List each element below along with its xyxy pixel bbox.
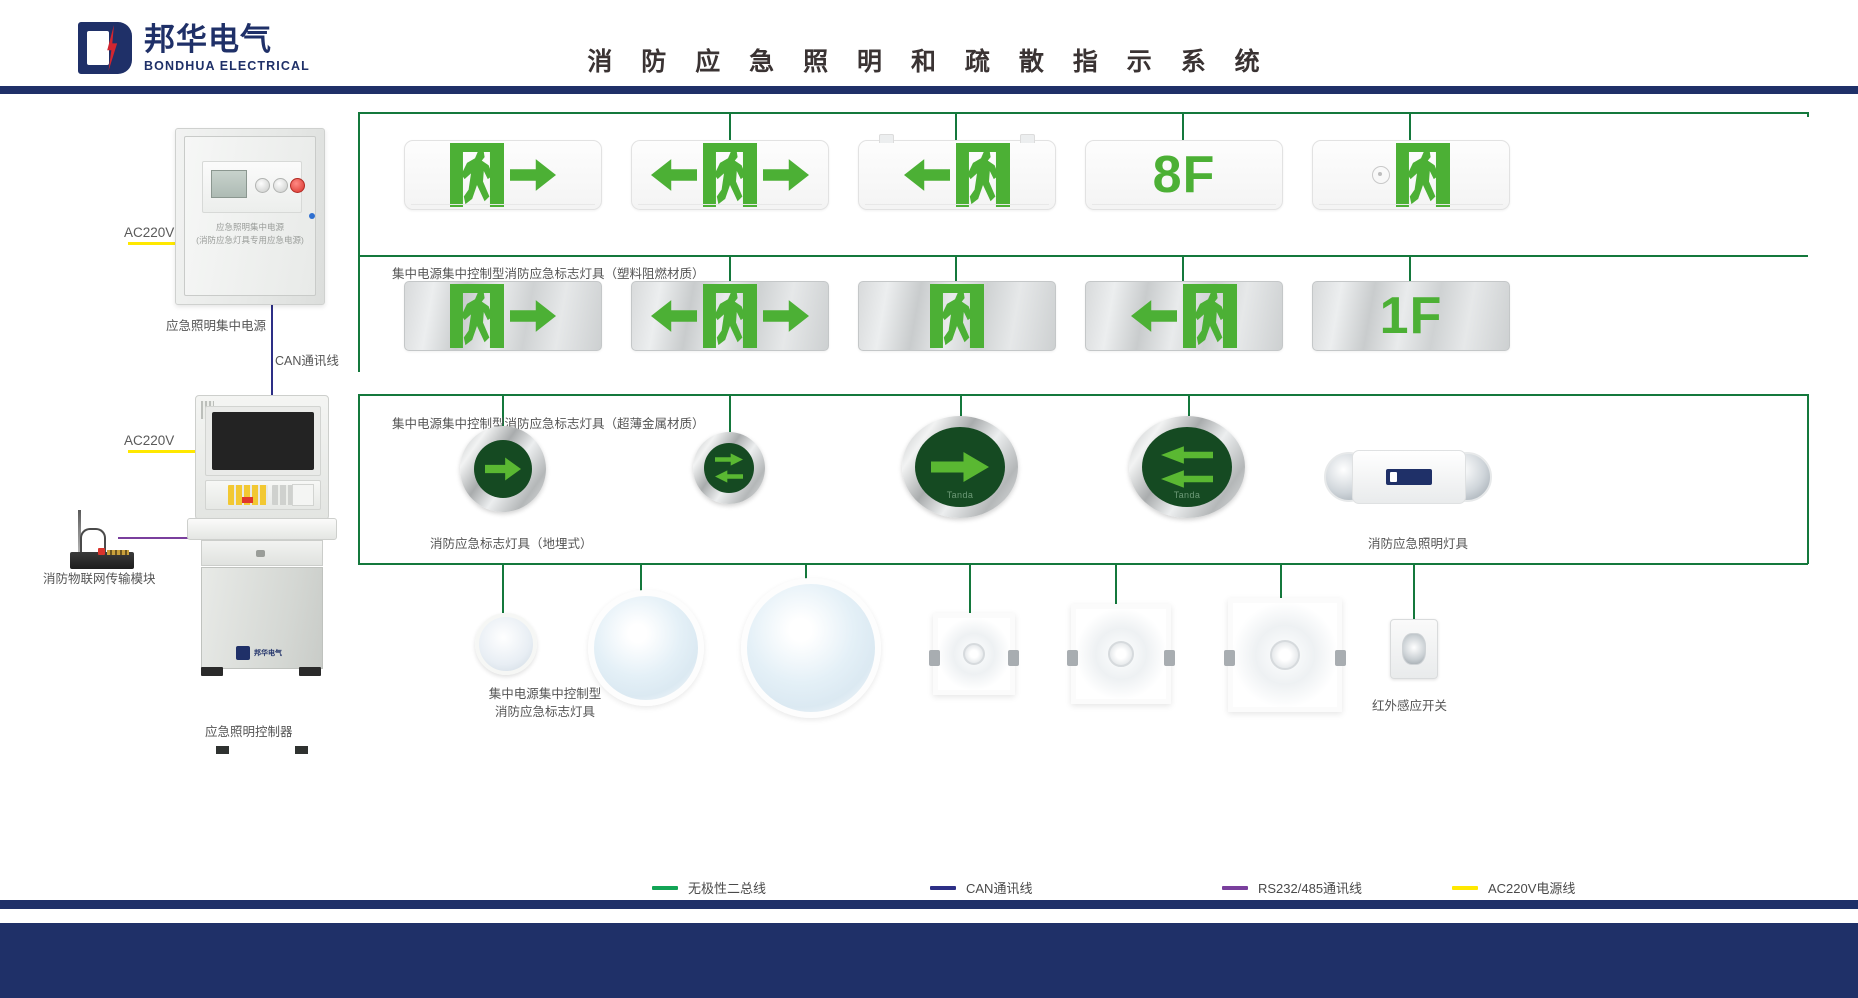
bus-drop-r1-2 [729, 112, 731, 142]
bus-green-vertical-main [358, 112, 360, 372]
controller-cabinet-door[interactable]: 邦华电气 [201, 567, 323, 669]
legend-swatch-green [652, 886, 678, 890]
arrow-left-icon [651, 157, 697, 193]
arrow-right-icon [763, 157, 809, 193]
legend: 无极性二总线 CAN通讯线 RS232/485通讯线 AC220V电源线 [0, 878, 1858, 898]
metal-sign-exit-plain[interactable] [858, 281, 1056, 351]
legend-item-2: RS232/485通讯线 [1222, 878, 1362, 897]
running-man-icon [1396, 143, 1450, 207]
infrared-wall-switch[interactable] [1390, 619, 1438, 679]
emergency-lighting-controller[interactable]: 邦华电气 [195, 395, 327, 690]
bus-drop-r4-1 [502, 563, 504, 613]
metal-sign-exit-left[interactable] [1085, 281, 1283, 351]
downlight-medium[interactable] [1071, 604, 1171, 704]
row3-caption-left: 消防应急标志灯具（地埋式） [430, 535, 593, 553]
bus-drop-r1-3 [955, 112, 957, 142]
row2-caption: 集中电源集中控制型消防应急标志灯具（超薄金属材质） [392, 415, 705, 433]
emergency-power-cabinet[interactable]: 应急照明集中电源 (消防应急灯具专用应急电源) [175, 128, 325, 305]
arrow-left-icon [651, 298, 697, 334]
running-man-icon [956, 143, 1010, 207]
can-bus-line [271, 303, 273, 399]
recessed-sign-arrow-right-wide[interactable]: Tanda [902, 416, 1018, 518]
legend-label-3: AC220V电源线 [1488, 878, 1575, 897]
twin-head-emergency-lamp[interactable] [1324, 444, 1492, 512]
legend-item-3: AC220V电源线 [1452, 878, 1575, 897]
cabinet-text-line1: 应急照明集中电源 [176, 221, 324, 234]
arrow-right-icon [485, 456, 521, 482]
bus-drop-r3-4 [1188, 394, 1190, 416]
bus-drop-r2-4 [1182, 255, 1184, 283]
recessed-sign-arrow-right[interactable] [460, 426, 546, 512]
controller-screen [212, 412, 314, 470]
metal-sign-floor-1f[interactable]: 1F [1312, 281, 1510, 351]
arrow-right-icon [931, 450, 989, 484]
legend-swatch-purple [1222, 886, 1248, 890]
row4-caption-right: 红外感应开关 [1372, 697, 1447, 715]
iot-module-caption: 消防物联网传输模块 [43, 570, 156, 588]
footer-rule-top [0, 900, 1858, 909]
downlight-small[interactable] [933, 613, 1015, 695]
recessed-sign-arrow-left-wide[interactable]: Tanda [1129, 416, 1245, 518]
cabinet-emergency-button[interactable] [290, 178, 305, 193]
cabinet-knob-2[interactable] [273, 178, 288, 193]
cabinet-status-led [309, 213, 315, 219]
running-man-icon [703, 284, 757, 348]
footer-band [0, 923, 1858, 998]
sign-floor-number-8f[interactable]: 8F [1085, 140, 1283, 210]
fire-iot-transmission-module[interactable] [68, 510, 136, 572]
running-man-icon [703, 143, 757, 207]
bus-green-row1-top [358, 112, 1808, 114]
page-title: 消 防 应 急 照 明 和 疏 散 指 示 系 统 [0, 42, 1858, 78]
ac-line-cabinet [128, 242, 176, 245]
bus-drop-r2-3 [955, 255, 957, 283]
lamp-brand-logo [1386, 469, 1432, 485]
arrow-right-icon [510, 298, 556, 334]
bus-drop-r1-5 [1409, 112, 1411, 142]
recessed-sign-arrow-double[interactable] [693, 432, 765, 504]
bus-drop-r3-3 [960, 394, 962, 416]
controller-drawer[interactable] [201, 540, 323, 566]
cabinet-text-line2: (消防应急灯具专用应急电源) [176, 234, 324, 247]
floor-number-text: 8F [1153, 145, 1216, 205]
running-man-icon [1183, 284, 1237, 348]
sign-exit-right[interactable] [404, 140, 602, 210]
sensor-icon [1372, 166, 1390, 184]
recessed-brand-label: Tanda [1142, 490, 1232, 500]
recessed-brand-label: Tanda [915, 490, 1005, 500]
arrow-left-icon [904, 157, 950, 193]
arrow-right-icon [715, 453, 743, 467]
arrow-right-icon [763, 298, 809, 334]
row4-caption-left: 集中电源集中控制型 消防应急标志灯具 [455, 685, 635, 721]
legend-label-0: 无极性二总线 [688, 878, 766, 897]
bus-green-row4 [358, 563, 1808, 565]
floor-number-text: 1F [1380, 286, 1443, 346]
sign-exit-both[interactable] [631, 140, 829, 210]
bus-green-row3 [358, 394, 1808, 396]
cabinet-body-text: 应急照明集中电源 (消防应急灯具专用应急电源) [176, 221, 324, 247]
power-cabinet-caption: 应急照明集中电源 [166, 317, 266, 335]
sign-exit-left[interactable] [858, 140, 1056, 210]
downlight-large[interactable] [1228, 598, 1342, 712]
page-header: 邦华电气 BONDHUA ELECTRICAL 消 防 应 急 照 明 和 疏 … [0, 0, 1858, 86]
bus-drop-r4-4 [969, 563, 971, 615]
bus-drop-r3-2 [729, 394, 731, 432]
ac-label-cabinet: AC220V [124, 225, 174, 240]
arrow-right-icon [510, 157, 556, 193]
arrow-left-icon [715, 470, 743, 484]
bus-drop-r2-2 [729, 255, 731, 283]
round-panel-lamp-large[interactable] [741, 578, 881, 718]
bus-end-r1 [1807, 112, 1809, 117]
running-man-icon [930, 284, 984, 348]
legend-label-2: RS232/485通讯线 [1258, 878, 1362, 897]
legend-swatch-navy [930, 886, 956, 890]
bus-drop-r4-7 [1413, 563, 1415, 619]
bus-green-row2 [358, 255, 1808, 257]
controller-caption: 应急照明控制器 [205, 723, 293, 741]
bus-drop-r1-4 [1182, 112, 1184, 142]
ac-line-console [128, 450, 196, 453]
can-line-label: CAN通讯线 [275, 352, 339, 370]
cabinet-lcd-screen [211, 170, 247, 198]
legend-label-1: CAN通讯线 [966, 878, 1032, 897]
cabinet-knob-1[interactable] [255, 178, 270, 193]
bus-drop-r2-5 [1409, 255, 1411, 283]
cabinet-control-panel [202, 161, 302, 213]
infrared-sensor-icon [1402, 633, 1426, 665]
metal-sign-exit-both[interactable] [631, 281, 829, 351]
bus-drop-r4-2 [640, 563, 642, 593]
legend-swatch-yellow [1452, 886, 1478, 890]
sign-exit-with-sensor[interactable] [1312, 140, 1510, 210]
bus-right-riser [1807, 394, 1809, 564]
bus-left-riser [358, 394, 360, 564]
running-man-icon [450, 284, 504, 348]
ac-label-console: AC220V [124, 433, 174, 448]
row3-caption-right: 消防应急照明灯具 [1368, 535, 1468, 553]
metal-sign-exit-right[interactable] [404, 281, 602, 351]
legend-item-0: 无极性二总线 [652, 878, 766, 897]
small-emergency-lamp[interactable] [475, 613, 537, 675]
arrow-left-icon [1131, 298, 1177, 334]
legend-item-1: CAN通讯线 [930, 878, 1032, 897]
running-man-icon [450, 143, 504, 207]
arrow-left-icon [1161, 445, 1213, 465]
arrow-left-icon-2 [1161, 469, 1213, 489]
header-divider [0, 86, 1858, 94]
